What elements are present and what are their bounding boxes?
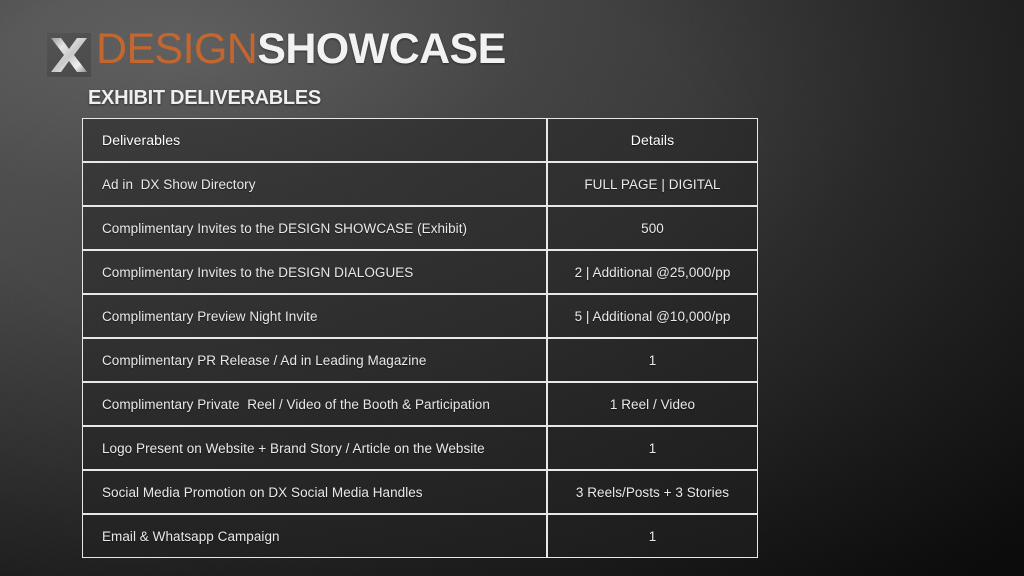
table-row: Complimentary Invites to the DESIGN DIAL… (82, 250, 758, 294)
cell-details: 2 | Additional @25,000/pp (547, 250, 758, 294)
table-body: Ad in DX Show DirectoryFULL PAGE | DIGIT… (82, 162, 758, 558)
page-subtitle: EXHIBIT DELIVERABLES (88, 87, 506, 110)
column-header-deliverables: Deliverables (82, 118, 547, 162)
cell-deliverable: Complimentary Invites to the DESIGN DIAL… (82, 250, 547, 294)
cell-details: 1 (547, 514, 758, 558)
cell-deliverable: Complimentary Invites to the DESIGN SHOW… (82, 206, 547, 250)
table-header-row: Deliverables Details (82, 118, 758, 162)
cell-details: 5 | Additional @10,000/pp (547, 294, 758, 338)
table-row: Complimentary Invites to the DESIGN SHOW… (82, 206, 758, 250)
table-row: Logo Present on Website + Brand Story / … (82, 426, 758, 470)
table-row: Complimentary Preview Night Invite5 | Ad… (82, 294, 758, 338)
brand-lockup: DESIGN SHOWCASE (46, 28, 506, 82)
cell-details: 3 Reels/Posts + 3 Stories (547, 470, 758, 514)
cell-deliverable: Complimentary Preview Night Invite (82, 294, 547, 338)
table-row: Complimentary Private Reel / Video of th… (82, 382, 758, 426)
cell-details: 500 (547, 206, 758, 250)
table-row: Social Media Promotion on DX Social Medi… (82, 470, 758, 514)
table-row: Email & Whatsapp Campaign1 (82, 514, 758, 558)
title-block: DESIGN SHOWCASE EXHIBIT DELIVERABLES (46, 28, 506, 110)
cell-deliverable: Complimentary PR Release / Ad in Leading… (82, 338, 547, 382)
deliverables-table: Deliverables Details Ad in DX Show Direc… (82, 118, 758, 558)
table-header: Deliverables Details (82, 118, 758, 162)
cell-details: FULL PAGE | DIGITAL (547, 162, 758, 206)
column-header-details: Details (547, 118, 758, 162)
cell-details: 1 (547, 426, 758, 470)
brand-word-design: DESIGN (96, 28, 257, 71)
brand-word-showcase: SHOWCASE (257, 28, 505, 71)
cell-deliverable: Social Media Promotion on DX Social Medi… (82, 470, 547, 514)
cell-details: 1 Reel / Video (547, 382, 758, 426)
cell-deliverable: Complimentary Private Reel / Video of th… (82, 382, 547, 426)
x-mark-icon (46, 32, 92, 78)
slide-canvas: DESIGN SHOWCASE EXHIBIT DELIVERABLES Del… (0, 0, 1024, 576)
cell-details: 1 (547, 338, 758, 382)
table-row: Ad in DX Show DirectoryFULL PAGE | DIGIT… (82, 162, 758, 206)
table-row: Complimentary PR Release / Ad in Leading… (82, 338, 758, 382)
cell-deliverable: Email & Whatsapp Campaign (82, 514, 547, 558)
cell-deliverable: Logo Present on Website + Brand Story / … (82, 426, 547, 470)
cell-deliverable: Ad in DX Show Directory (82, 162, 547, 206)
slide-content: DESIGN SHOWCASE EXHIBIT DELIVERABLES Del… (0, 0, 1024, 576)
